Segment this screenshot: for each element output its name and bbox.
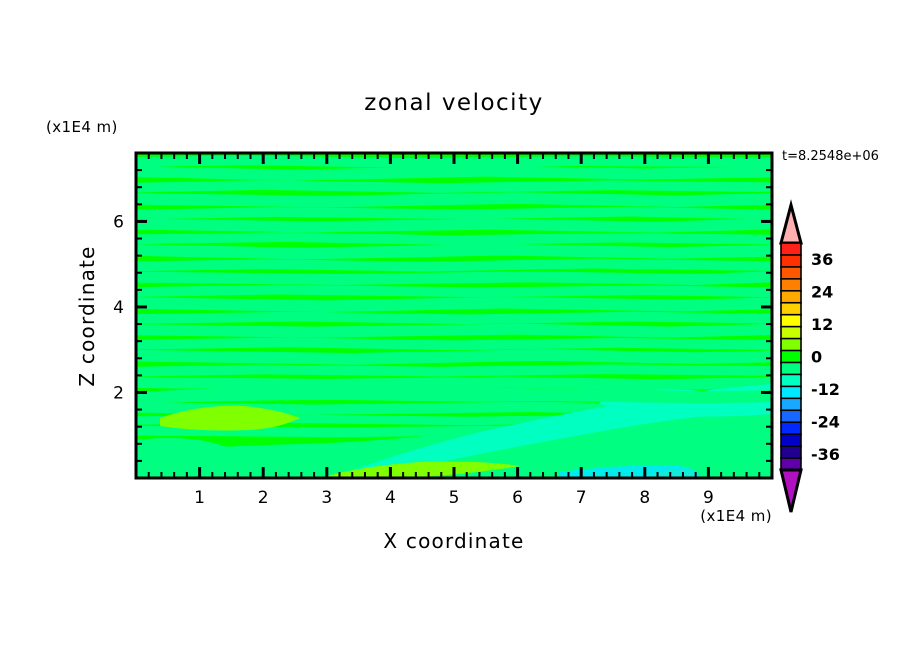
colorbar-band--48 bbox=[781, 422, 801, 434]
colorbar-band--24 bbox=[781, 374, 801, 386]
x-tick-label: 4 bbox=[385, 488, 396, 508]
x-tick-label: 6 bbox=[512, 488, 523, 508]
colorbar-label: 24 bbox=[811, 283, 833, 302]
plot-canvas[interactable] bbox=[136, 153, 772, 478]
colorbar-band--42 bbox=[781, 410, 801, 422]
x-tick-label: 5 bbox=[449, 488, 460, 508]
y-tick-label: 4 bbox=[113, 298, 124, 318]
x-axis-unit-label: (x1E4 m) bbox=[700, 507, 772, 525]
colorbar-band-18 bbox=[781, 291, 801, 303]
colorbar-band-6 bbox=[781, 315, 801, 327]
colorbar-band--6 bbox=[781, 339, 801, 351]
x-tick-label: 7 bbox=[576, 488, 587, 508]
colorbar-band-42 bbox=[781, 243, 801, 255]
x-tick-label: 8 bbox=[639, 488, 650, 508]
y-axis-title: Z coordinate bbox=[75, 245, 99, 386]
colorbar-band--54 bbox=[781, 434, 801, 446]
colorbar-band-12 bbox=[781, 303, 801, 315]
colorbar-label: 0 bbox=[811, 348, 822, 367]
y-axis-unit-label: (x1E4 m) bbox=[46, 118, 118, 136]
colorbar-band--30 bbox=[781, 386, 801, 398]
x-tick-label: 1 bbox=[194, 488, 205, 508]
colorbar-label: -12 bbox=[811, 380, 840, 399]
x-tick-label: 3 bbox=[321, 488, 332, 508]
colorbar-band-0 bbox=[781, 327, 801, 339]
colorbar-band--60 bbox=[781, 446, 801, 458]
colorbar-label: -36 bbox=[811, 445, 840, 464]
colorbar-label: 36 bbox=[811, 250, 833, 269]
x-tick-label: 2 bbox=[258, 488, 269, 508]
colorbar-band--12 bbox=[781, 351, 801, 363]
colorbar-band--18 bbox=[781, 362, 801, 374]
colorbar-band-24 bbox=[781, 279, 801, 291]
time-annotation: t=8.2548e+06 bbox=[782, 149, 879, 164]
colorbar-band--36 bbox=[781, 398, 801, 410]
contour-plot-figure: zonal velocity (x1E4 m) t=8.2548e+06 123… bbox=[0, 0, 904, 654]
colorbar-band-36 bbox=[781, 255, 801, 267]
colorbar-cells bbox=[781, 243, 801, 471]
page-title: zonal velocity bbox=[364, 90, 543, 116]
x-tick-label: 9 bbox=[703, 488, 714, 508]
colorbar-label: 12 bbox=[811, 315, 833, 334]
colorbar-band-30 bbox=[781, 267, 801, 279]
x-axis-title: X coordinate bbox=[383, 529, 524, 553]
y-tick-label: 6 bbox=[113, 212, 124, 232]
colorbar-label: -24 bbox=[811, 412, 840, 431]
y-tick-label: 2 bbox=[113, 383, 124, 403]
